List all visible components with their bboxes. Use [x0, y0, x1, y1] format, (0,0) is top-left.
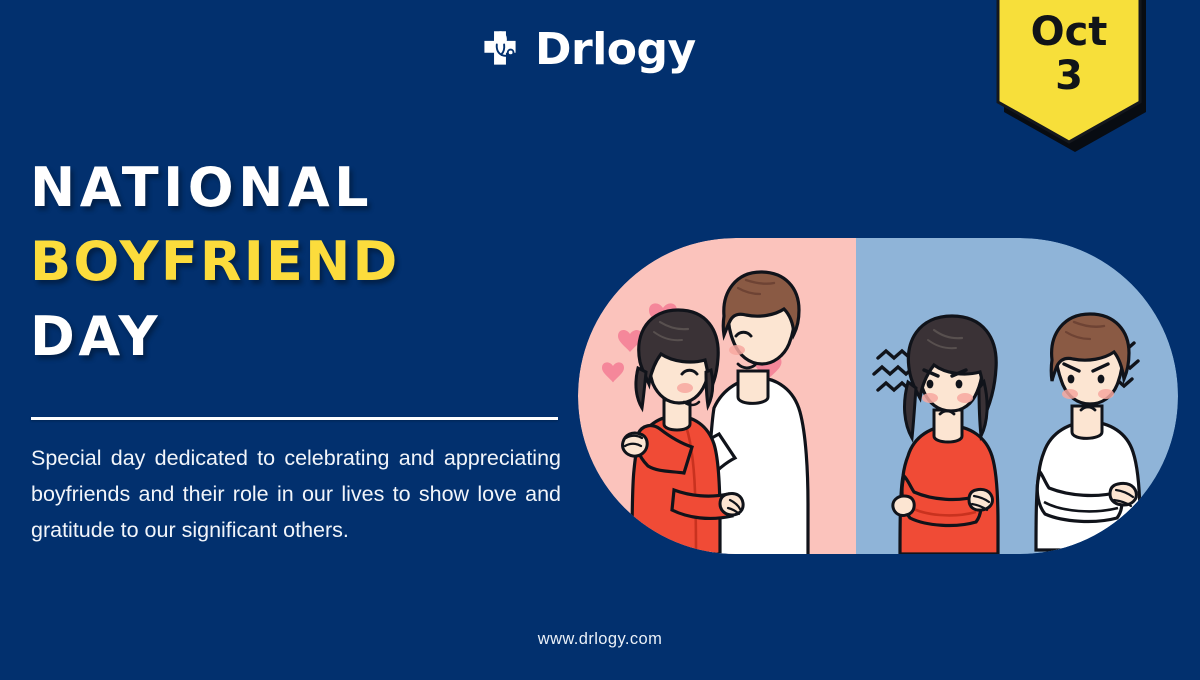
page-title: NATIONAL BOYFRIEND DAY — [30, 158, 590, 366]
brand-logo[interactable]: Drlogy — [478, 28, 696, 72]
date-badge: Oct 3 — [984, 0, 1154, 145]
medical-cross-stethoscope-icon — [478, 28, 522, 72]
couple-illustration — [578, 238, 1178, 554]
poster-canvas: Drlogy Oct 3 NATIONAL BOYFRIEND DAY Spec… — [0, 0, 1200, 680]
date-badge-day: 3 — [984, 56, 1154, 97]
brand-name: Drlogy — [535, 28, 696, 72]
date-badge-month: Oct — [984, 12, 1154, 53]
description-text: Special day dedicated to celebrating and… — [31, 440, 561, 548]
footer-website[interactable]: www.drlogy.com — [0, 630, 1200, 649]
headline-line-1: NATIONAL — [30, 158, 590, 217]
headline-line-3: DAY — [30, 307, 590, 366]
headline-line-2: BOYFRIEND — [30, 232, 590, 291]
illustration-svg — [578, 238, 1178, 554]
divider-rule — [31, 417, 558, 420]
